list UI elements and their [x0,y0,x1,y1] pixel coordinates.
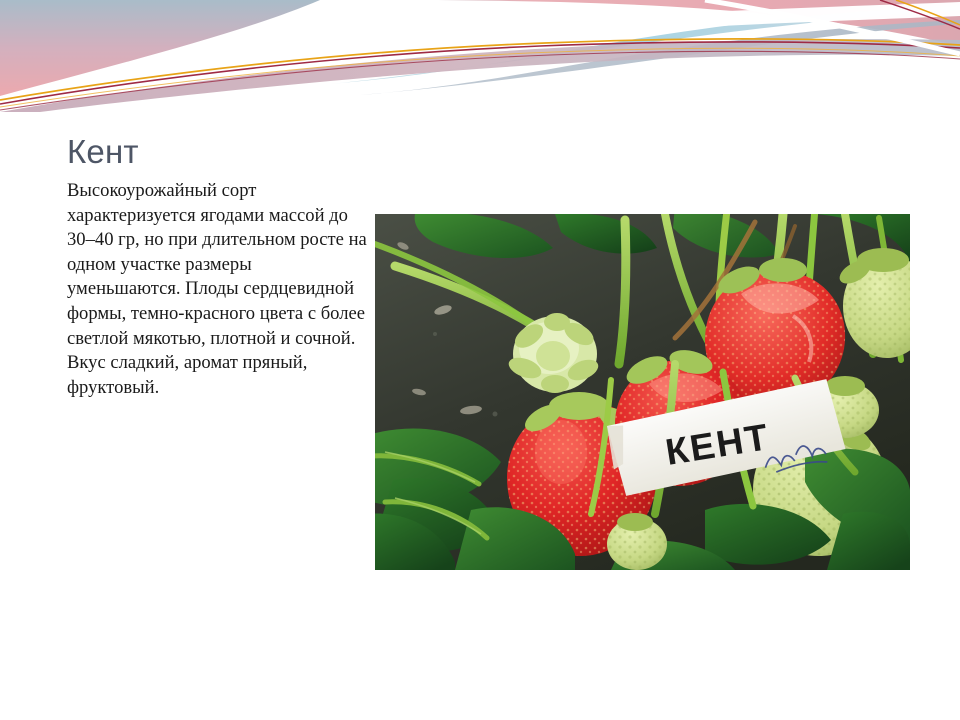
description-paragraph: Высокоурожайный сорт характеризуется яго… [67,179,367,400]
slide: Кент Высокоурожайный сорт характеризуетс… [0,0,960,720]
page-title: Кент [67,134,139,170]
strawberry-plant-photo: КЕНТ [375,214,910,570]
header-decoration [0,0,960,112]
